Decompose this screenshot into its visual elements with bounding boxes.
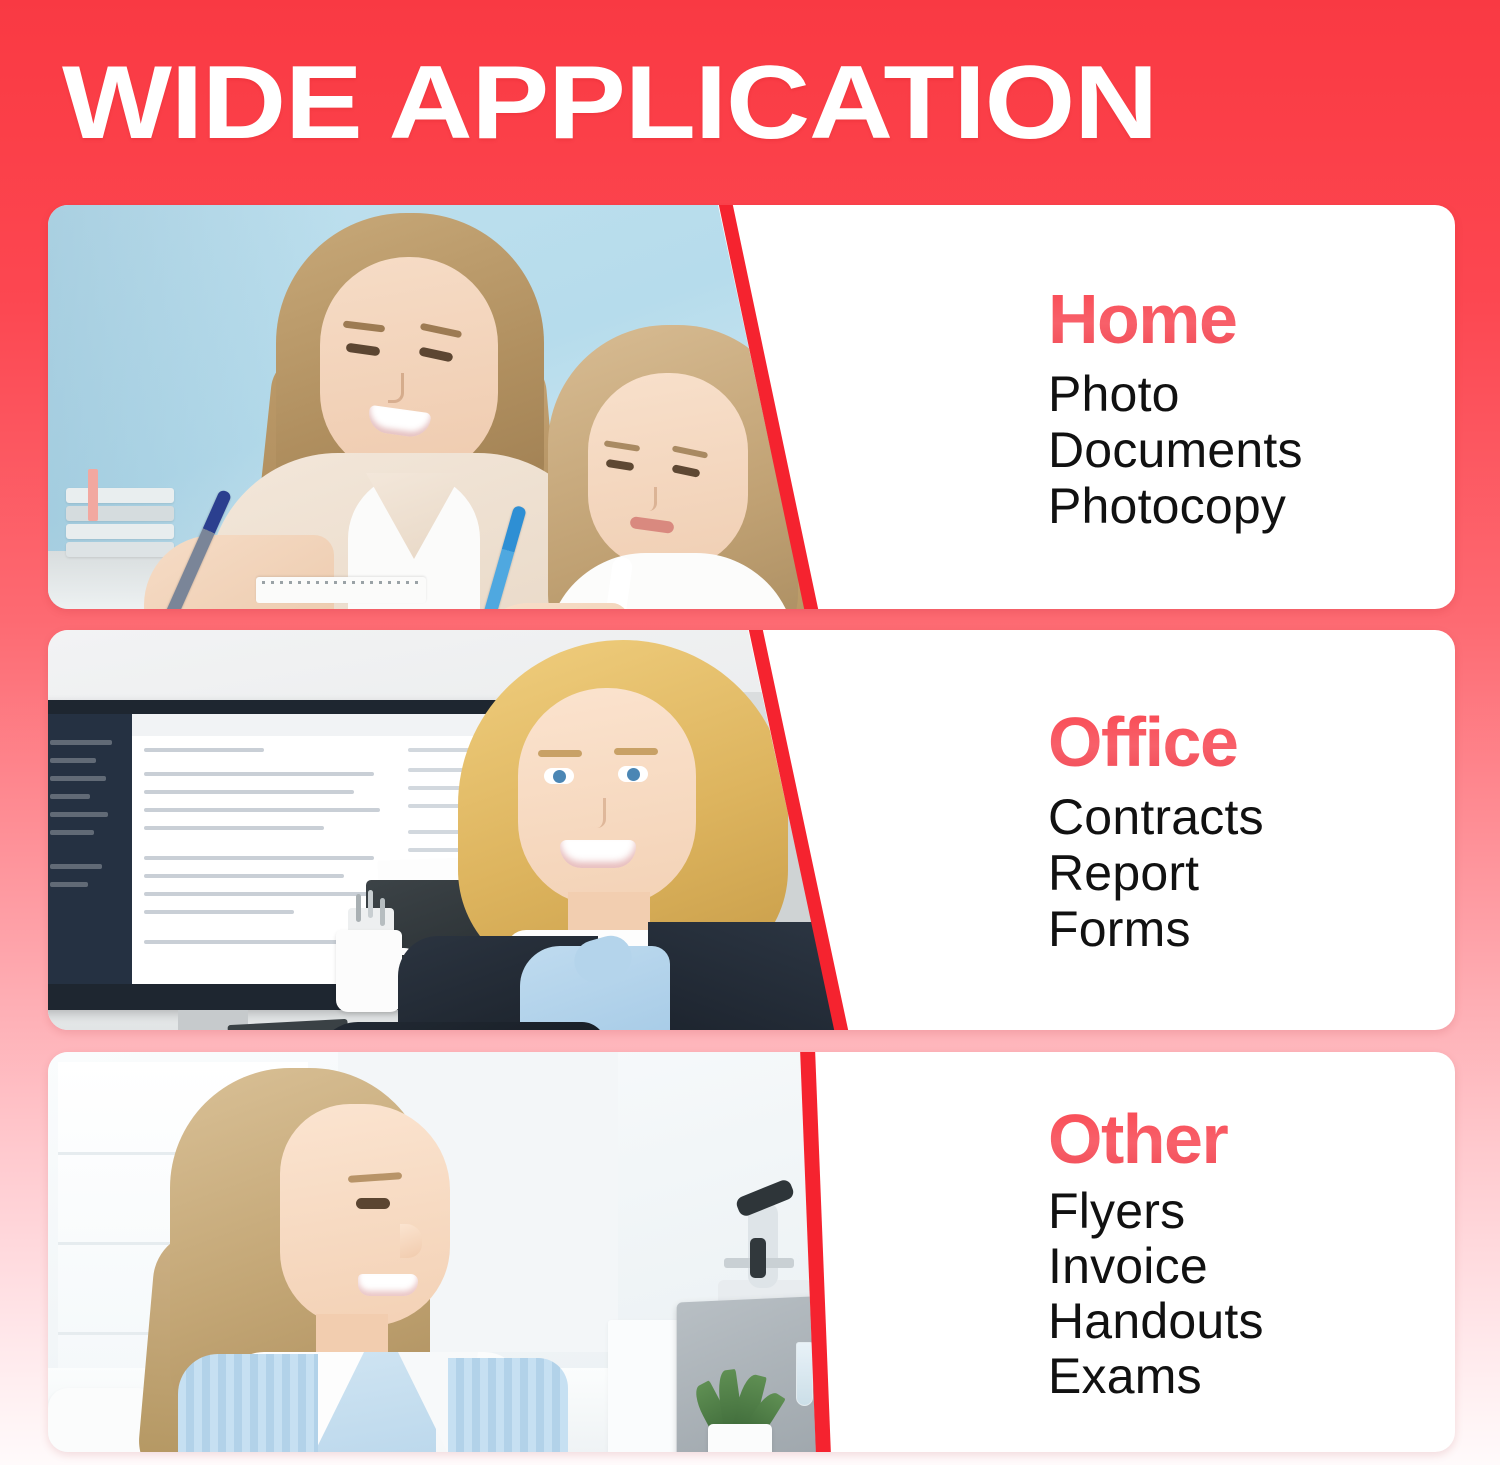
application-card-office: Office Contracts Report Forms: [48, 630, 1455, 1030]
photo-other: [48, 1052, 860, 1452]
text-panel-other: Other Flyers Invoice Handouts Exams: [1000, 1052, 1455, 1452]
list-item: Report: [1048, 845, 1455, 901]
list-item: Invoice: [1048, 1239, 1455, 1294]
card-list-home: Photo Documents Photocopy: [1048, 366, 1455, 534]
list-item: Documents: [1048, 422, 1455, 478]
text-panel-office: Office Contracts Report Forms: [1000, 630, 1455, 1030]
application-card-home: Home Photo Documents Photocopy: [48, 205, 1455, 609]
list-item: Forms: [1048, 901, 1455, 957]
photo-other-scene: [48, 1052, 860, 1452]
list-item: Handouts: [1048, 1294, 1455, 1349]
application-card-other: Other Flyers Invoice Handouts Exams: [48, 1052, 1455, 1452]
list-item: Contracts: [1048, 789, 1455, 845]
list-item: Photocopy: [1048, 478, 1455, 534]
photo-office-scene: [48, 630, 860, 1030]
photo-home: [48, 205, 860, 609]
card-heading-office: Office: [1048, 703, 1455, 781]
list-item: Exams: [1048, 1349, 1455, 1404]
card-heading-other: Other: [1048, 1100, 1455, 1178]
card-list-other: Flyers Invoice Handouts Exams: [1048, 1184, 1455, 1404]
poster-title-area: WIDE APPLICATION: [62, 40, 1442, 165]
poster-title: WIDE APPLICATION: [62, 51, 1157, 155]
list-item: Photo: [1048, 366, 1455, 422]
photo-office: [48, 630, 860, 1030]
list-item: Flyers: [1048, 1184, 1455, 1239]
card-list-office: Contracts Report Forms: [1048, 789, 1455, 957]
poster-canvas: WIDE APPLICATION: [0, 0, 1500, 1465]
text-panel-home: Home Photo Documents Photocopy: [1000, 205, 1455, 609]
card-heading-home: Home: [1048, 280, 1455, 358]
photo-home-scene: [48, 205, 860, 609]
